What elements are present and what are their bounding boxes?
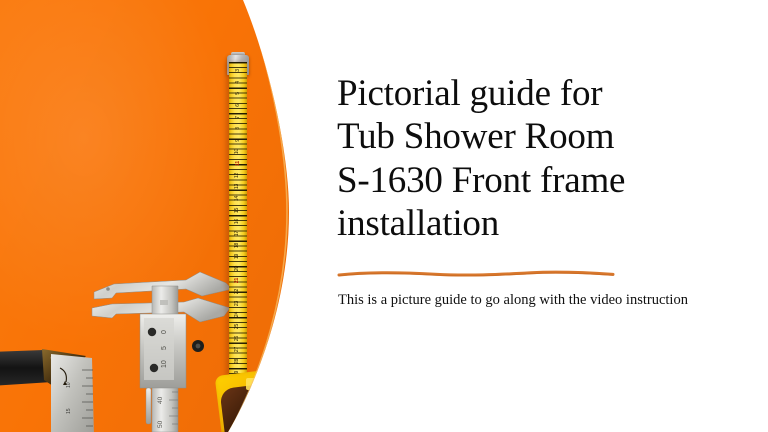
text-block: Pictorial guide for Tub Shower Room S-16… bbox=[337, 0, 747, 432]
svg-text:15: 15 bbox=[66, 408, 72, 414]
hero-photo: 10 15 bbox=[0, 0, 300, 432]
page-subtitle: This is a picture guide to go along with… bbox=[338, 290, 730, 311]
page-title: Pictorial guide for Tub Shower Room S-16… bbox=[337, 72, 737, 245]
svg-text:40: 40 bbox=[157, 396, 164, 404]
photo-curved-mask: 10 15 bbox=[0, 0, 300, 432]
blade-curve-highlight bbox=[200, 0, 300, 432]
wavy-divider bbox=[337, 268, 615, 280]
svg-text:0: 0 bbox=[161, 330, 168, 334]
svg-text:10: 10 bbox=[161, 360, 168, 368]
title-slide: 10 15 bbox=[0, 0, 768, 432]
svg-text:50: 50 bbox=[157, 420, 164, 428]
svg-text:10: 10 bbox=[66, 382, 72, 388]
svg-text:5: 5 bbox=[161, 346, 168, 350]
